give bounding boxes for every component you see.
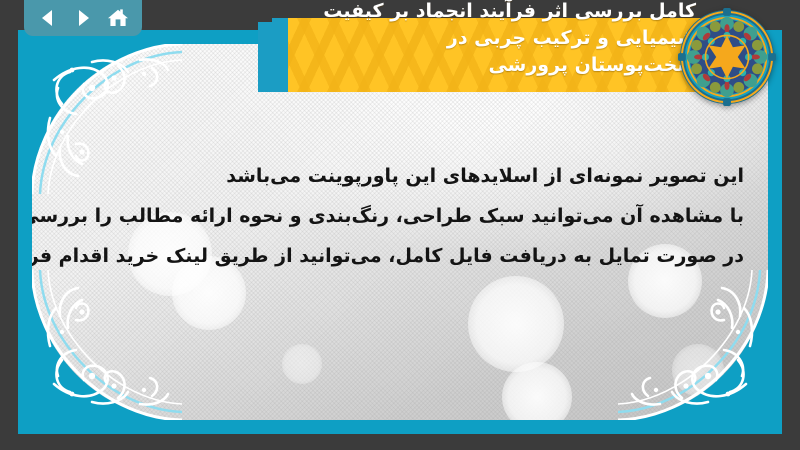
slide-body-text: این تصویر نمونه‌ای از اسلایدهای این پاور… bbox=[54, 156, 744, 276]
body-line: با مشاهده آن می‌توانید سبک طراحی، رنگ‌بن… bbox=[54, 196, 744, 236]
bokeh-circle bbox=[468, 276, 564, 372]
bokeh-circle bbox=[282, 344, 322, 384]
next-slide-button[interactable] bbox=[68, 5, 98, 31]
persian-medallion-icon bbox=[678, 8, 776, 106]
slide-canvas: این تصویر نمونه‌ای از اسلایدهای این پاور… bbox=[0, 0, 800, 450]
body-line: این تصویر نمونه‌ای از اسلایدهای این پاور… bbox=[54, 156, 744, 196]
triangle-right-icon bbox=[73, 8, 93, 28]
banner-left-accent bbox=[272, 18, 288, 92]
prev-slide-button[interactable] bbox=[33, 5, 63, 31]
home-icon bbox=[107, 7, 129, 29]
triangle-left-icon bbox=[38, 8, 58, 28]
slide-nav-bar[interactable] bbox=[24, 0, 142, 36]
arabesque-corner-icon bbox=[32, 270, 182, 420]
content-panel: این تصویر نمونه‌ای از اسلایدهای این پاور… bbox=[32, 44, 768, 420]
title-banner bbox=[272, 18, 704, 92]
body-line: در صورت تمایل به دریافت فایل کامل، می‌تو… bbox=[54, 236, 744, 276]
banner-weave-pattern bbox=[272, 18, 704, 92]
arabesque-corner-icon bbox=[618, 270, 768, 420]
home-button[interactable] bbox=[103, 5, 133, 31]
